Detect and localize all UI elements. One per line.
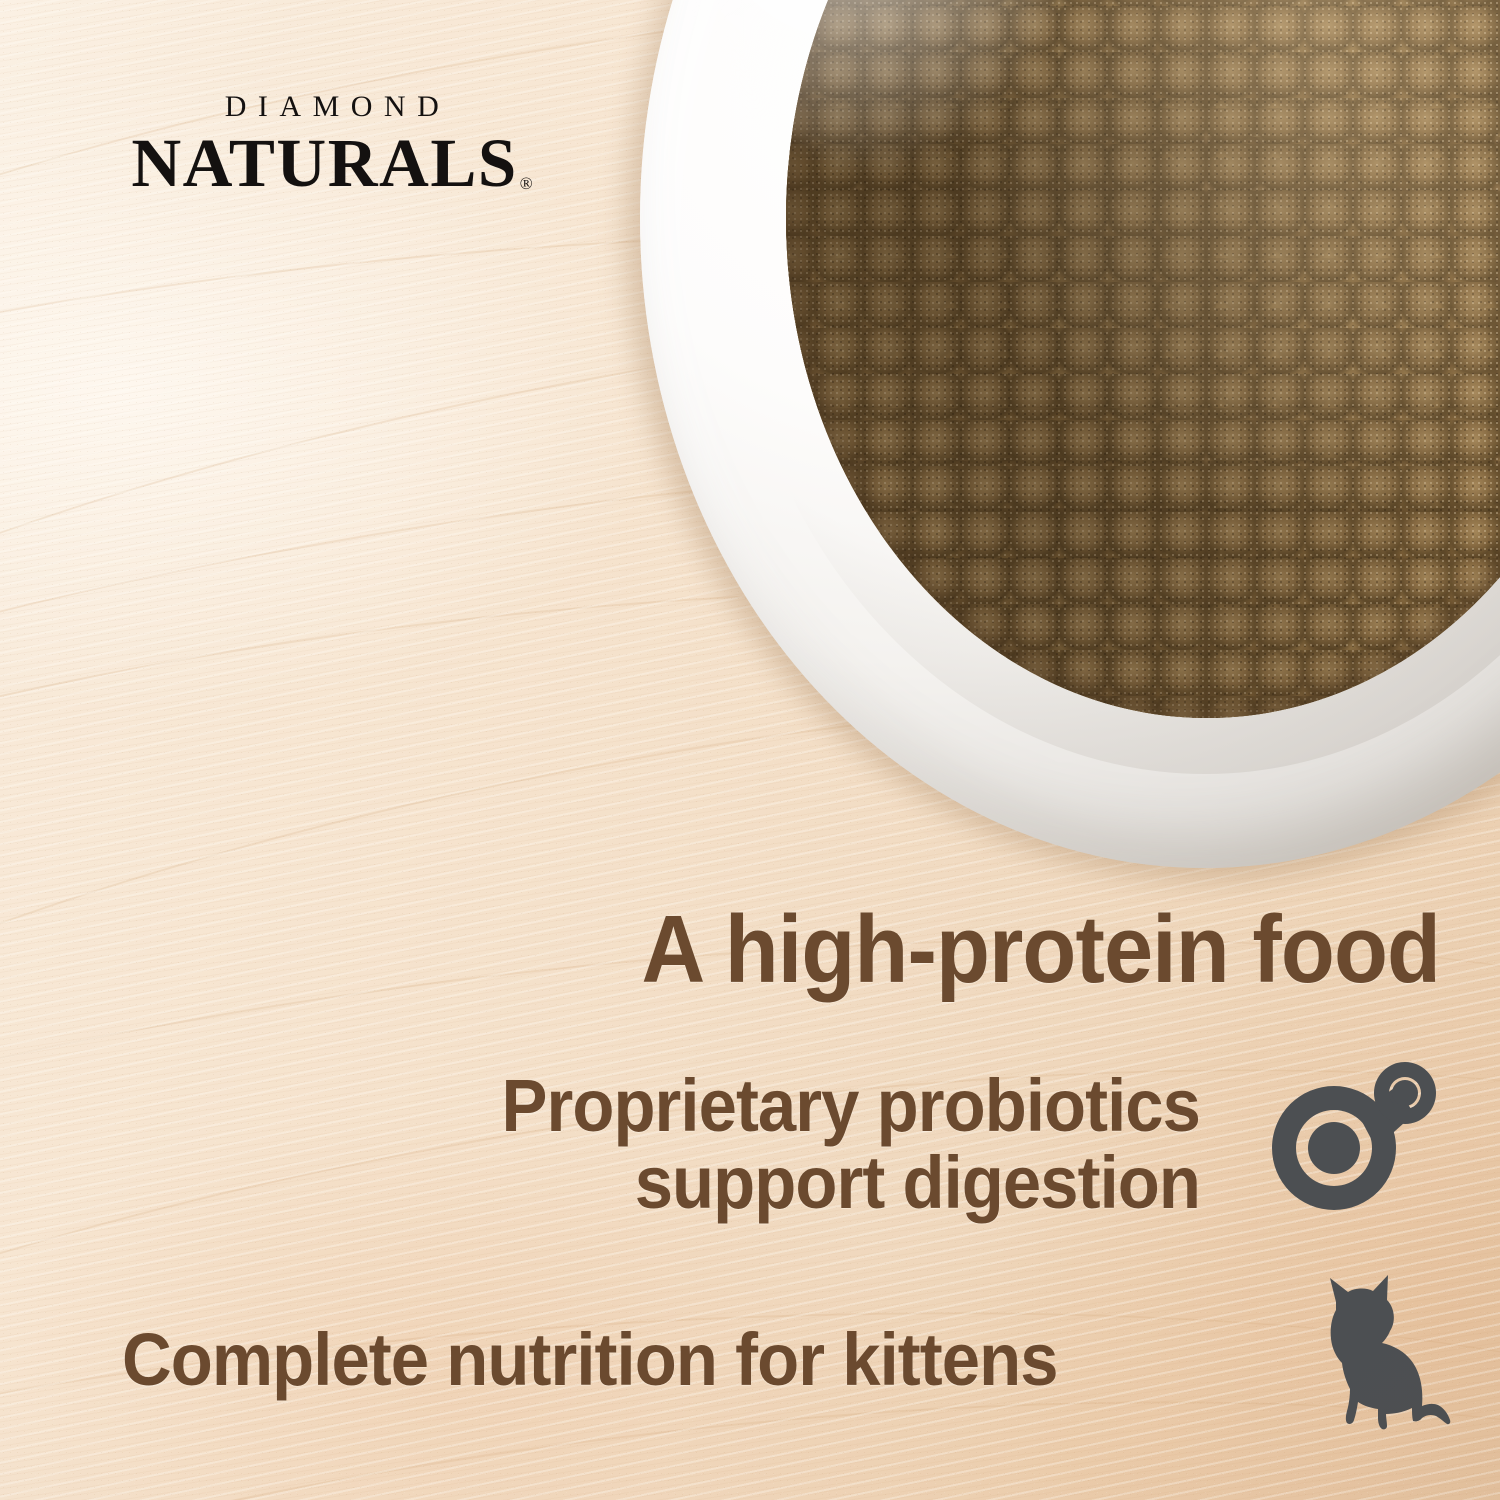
logo-line-naturals-row: NATURALS ®: [112, 131, 552, 196]
claim-probiotics-line-1: Proprietary probiotics: [502, 1064, 1200, 1147]
kibble-bowl: [640, 0, 1500, 868]
logo-line-naturals: NATURALS: [131, 131, 517, 196]
product-feature-image: DIAMOND NATURALS ® A high-protein food P…: [0, 0, 1500, 1500]
probiotic-cell-icon: [1262, 1056, 1447, 1231]
claim-kittens-text: Complete nutrition for kittens: [122, 1322, 1126, 1399]
brand-logo: DIAMOND NATURALS ®: [112, 92, 552, 196]
claim-probiotics-text: Proprietary probiotics support digestion: [363, 1068, 1200, 1222]
headline-text: A high-protein food: [336, 900, 1440, 1000]
registered-trademark-mark: ®: [520, 175, 533, 192]
claim-probiotics-line-2: support digestion: [363, 1145, 1200, 1222]
logo-line-diamond: DIAMOND: [112, 92, 552, 122]
kitten-silhouette-icon: [1292, 1272, 1462, 1440]
